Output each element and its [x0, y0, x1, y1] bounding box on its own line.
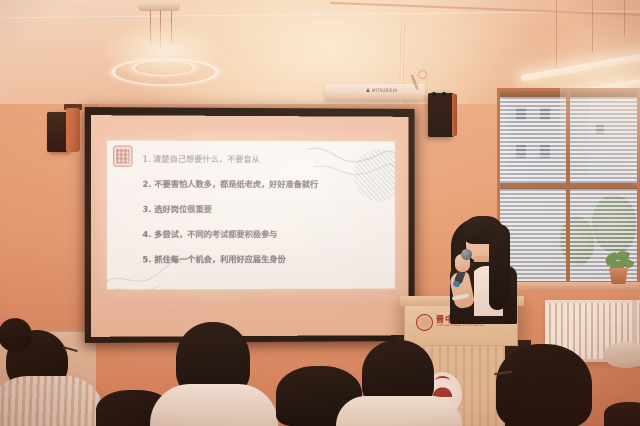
slide-line-2: 2. 不要害怕人数多，都是纸老虎，好好准备就行 — [143, 172, 387, 197]
speaker-port — [442, 92, 446, 96]
audience-head — [496, 344, 592, 426]
ring-pendant-light-inner — [133, 60, 195, 76]
university-crest-icon — [416, 314, 433, 331]
institution-name-en: Jinzhong College of Information — [436, 325, 491, 328]
ac-brand-label: MITSUBISHI — [372, 88, 397, 93]
tube-wire — [556, 0, 557, 74]
seal-pattern — [116, 149, 129, 164]
wall-speaker-right-edge — [452, 94, 457, 136]
tube-wire — [624, 0, 625, 36]
tube-wire — [592, 0, 593, 52]
presenter-hair-side — [489, 224, 510, 310]
slide-bullet-list: 1. 清楚自己想要什么，不要盲从 2. 不要害怕人数多，都是纸老虎，好好准备就行… — [143, 147, 387, 273]
ac-pipe-coil — [418, 70, 427, 79]
audience-body-white-shirt — [150, 384, 278, 426]
audience-body-striped — [0, 376, 104, 426]
pendant-canopy — [138, 2, 180, 11]
slide-line-3: 3. 选好岗位很重要 — [143, 197, 387, 222]
wall-speaker-left-side — [66, 108, 80, 152]
photo-scene: MITSUBISHI — [0, 0, 640, 426]
wall-speaker-right-icon — [428, 93, 454, 137]
red-arch-seal-icon — [432, 380, 453, 397]
microphone-head — [461, 249, 472, 260]
audience-body-white-shirt — [336, 396, 462, 426]
slide-line-1: 1. 清楚自己想要什么，不要盲从 — [143, 147, 387, 173]
window-glare — [560, 88, 640, 218]
speaker-port — [432, 92, 436, 96]
slide-line-4: 4. 多尝试，不同的考试都要积极参与 — [143, 222, 387, 247]
flower-pot — [609, 268, 628, 284]
slide-line-5: 5. 抓住每一个机会，利用好应届生身份 — [143, 247, 387, 273]
mitsubishi-logo-icon — [366, 88, 370, 92]
audience-head — [604, 402, 640, 426]
presentation-slide: 1. 清楚自己想要什么，不要盲从 2. 不要害怕人数多，都是纸老虎，好好准备就行… — [107, 140, 395, 289]
red-seal-stamp-icon — [113, 146, 132, 167]
